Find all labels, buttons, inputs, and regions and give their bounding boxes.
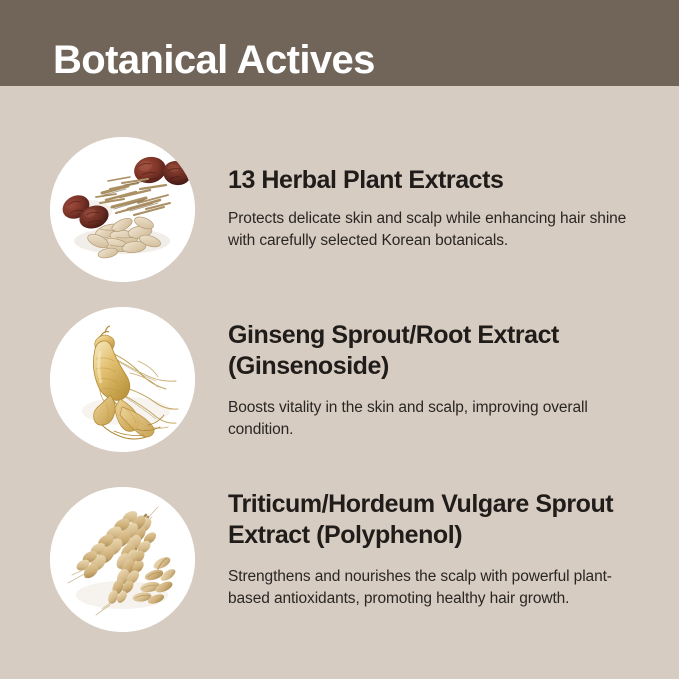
botanical-actives-panel: Botanical Actives (0, 0, 679, 679)
wheat-barley-sprout-photo (50, 487, 195, 632)
feature-title: Triticum/Hordeum Vulgare Sprout Extract … (228, 487, 648, 550)
feature-text-2: Ginseng Sprout/Root Extract (Ginsenoside… (228, 307, 648, 441)
herbal-plant-extracts-photo (50, 137, 195, 282)
feature-description: Protects delicate skin and scalp while e… (228, 196, 648, 252)
feature-title: 13 Herbal Plant Extracts (228, 137, 648, 196)
feature-text-1: 13 Herbal Plant Extracts Protects delica… (228, 137, 648, 252)
ginseng-root-photo (50, 307, 195, 452)
feature-text-3: Triticum/Hordeum Vulgare Sprout Extract … (228, 487, 648, 610)
feature-title: Ginseng Sprout/Root Extract (Ginsenoside… (228, 307, 648, 381)
page-title: Botanical Actives (53, 40, 375, 80)
feature-description: Strengthens and nourishes the scalp with… (228, 550, 648, 610)
feature-description: Boosts vitality in the skin and scalp, i… (228, 381, 648, 441)
